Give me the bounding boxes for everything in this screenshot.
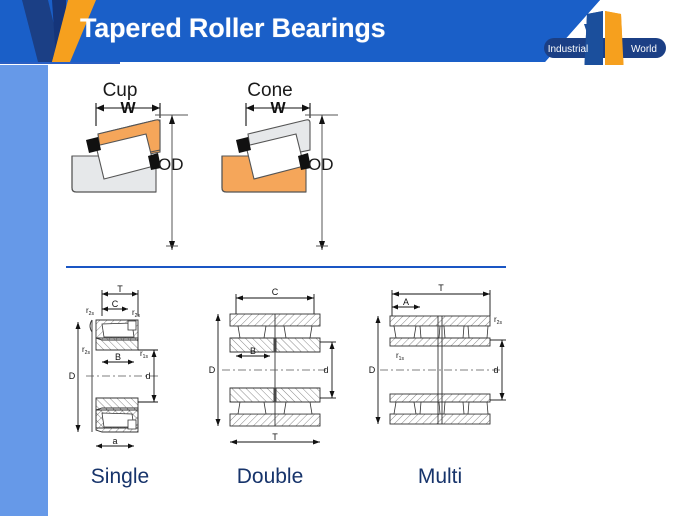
cup-od-dimension	[150, 108, 210, 258]
double-upper-roller-right	[284, 326, 312, 338]
multi-A-label: A	[403, 297, 409, 307]
double-lower-roller-right	[284, 402, 312, 414]
single-a-label: a	[112, 436, 117, 446]
single-B-label: B	[115, 352, 121, 362]
double-D-label: D	[209, 365, 216, 375]
multi-r1s-label: r1s	[396, 351, 404, 362]
double-upper-cone-right	[276, 338, 320, 352]
multi-lower-outer-ring	[390, 414, 490, 424]
multi-d-label: d	[493, 365, 498, 375]
single-upper-cone	[96, 338, 138, 350]
slide-root: Tapered Roller Bearings Industrial World…	[0, 0, 700, 516]
cone-figure-label: Cone	[238, 80, 302, 102]
multi-upper-roller-2	[420, 326, 440, 338]
double-d-label: d	[323, 365, 328, 375]
cup-od-label: OD	[158, 155, 184, 175]
multi-upper-roller-3	[444, 326, 464, 338]
single-upper-rib	[128, 321, 136, 330]
multi-lower-inner-ring	[390, 394, 490, 402]
multi-upper-inner-ring	[390, 338, 490, 346]
multi-upper-outer-ring	[390, 316, 490, 326]
double-bearing-diagram: C B	[208, 280, 348, 460]
single-d-label: d	[145, 371, 150, 381]
single-r2s-label-left: r2s	[86, 306, 94, 317]
logo-left-text: Industrial	[548, 44, 589, 55]
single-caption: Single	[75, 465, 165, 489]
double-caption: Double	[225, 465, 315, 489]
multi-upper-roller-1	[394, 326, 416, 338]
logo-right-text: World	[631, 44, 657, 55]
multi-lower-roller-1	[394, 402, 416, 414]
left-accent-sidebar	[0, 65, 48, 516]
multi-lower-roller-4	[468, 402, 488, 414]
single-C-label: C	[112, 299, 119, 309]
double-lower-cone-right	[276, 388, 320, 402]
single-T-label: T	[117, 284, 123, 294]
double-C-label: C	[272, 287, 279, 297]
header-underline-bar	[0, 62, 120, 64]
cone-od-dimension	[300, 108, 360, 258]
double-T-label: T	[272, 432, 278, 442]
double-B-label: B	[250, 346, 256, 356]
single-lower-rib	[128, 420, 136, 429]
cone-od-label: OD	[308, 155, 334, 175]
single-r1s-label: r1s	[140, 349, 148, 360]
multi-r2s-label: r2s	[494, 315, 502, 326]
page-title: Tapered Roller Bearings	[80, 13, 386, 44]
single-D-label: D	[69, 371, 76, 381]
multi-lower-roller-2	[420, 402, 440, 414]
single-lower-cone	[96, 398, 138, 410]
cup-width-label: W	[120, 100, 136, 117]
double-upper-roller-left	[238, 326, 266, 338]
multi-lower-roller-3	[444, 402, 464, 414]
multi-caption: Multi	[395, 465, 485, 489]
single-r2s-vertical: r2s	[82, 345, 90, 356]
double-lower-roller-left	[238, 402, 266, 414]
single-bearing-diagram: T C r2s r2s	[62, 280, 222, 460]
cone-width-label: W	[270, 100, 286, 117]
multi-upper-roller-4	[468, 326, 488, 338]
cup-figure-label: Cup	[88, 80, 152, 102]
single-r2s-label-right: r2s	[132, 308, 140, 319]
section-divider	[66, 266, 506, 268]
double-lower-cone-left	[230, 388, 274, 402]
multi-D-label: D	[369, 365, 376, 375]
multi-T-label: T	[438, 283, 444, 293]
multi-bearing-diagram: T A r2s	[368, 280, 518, 460]
